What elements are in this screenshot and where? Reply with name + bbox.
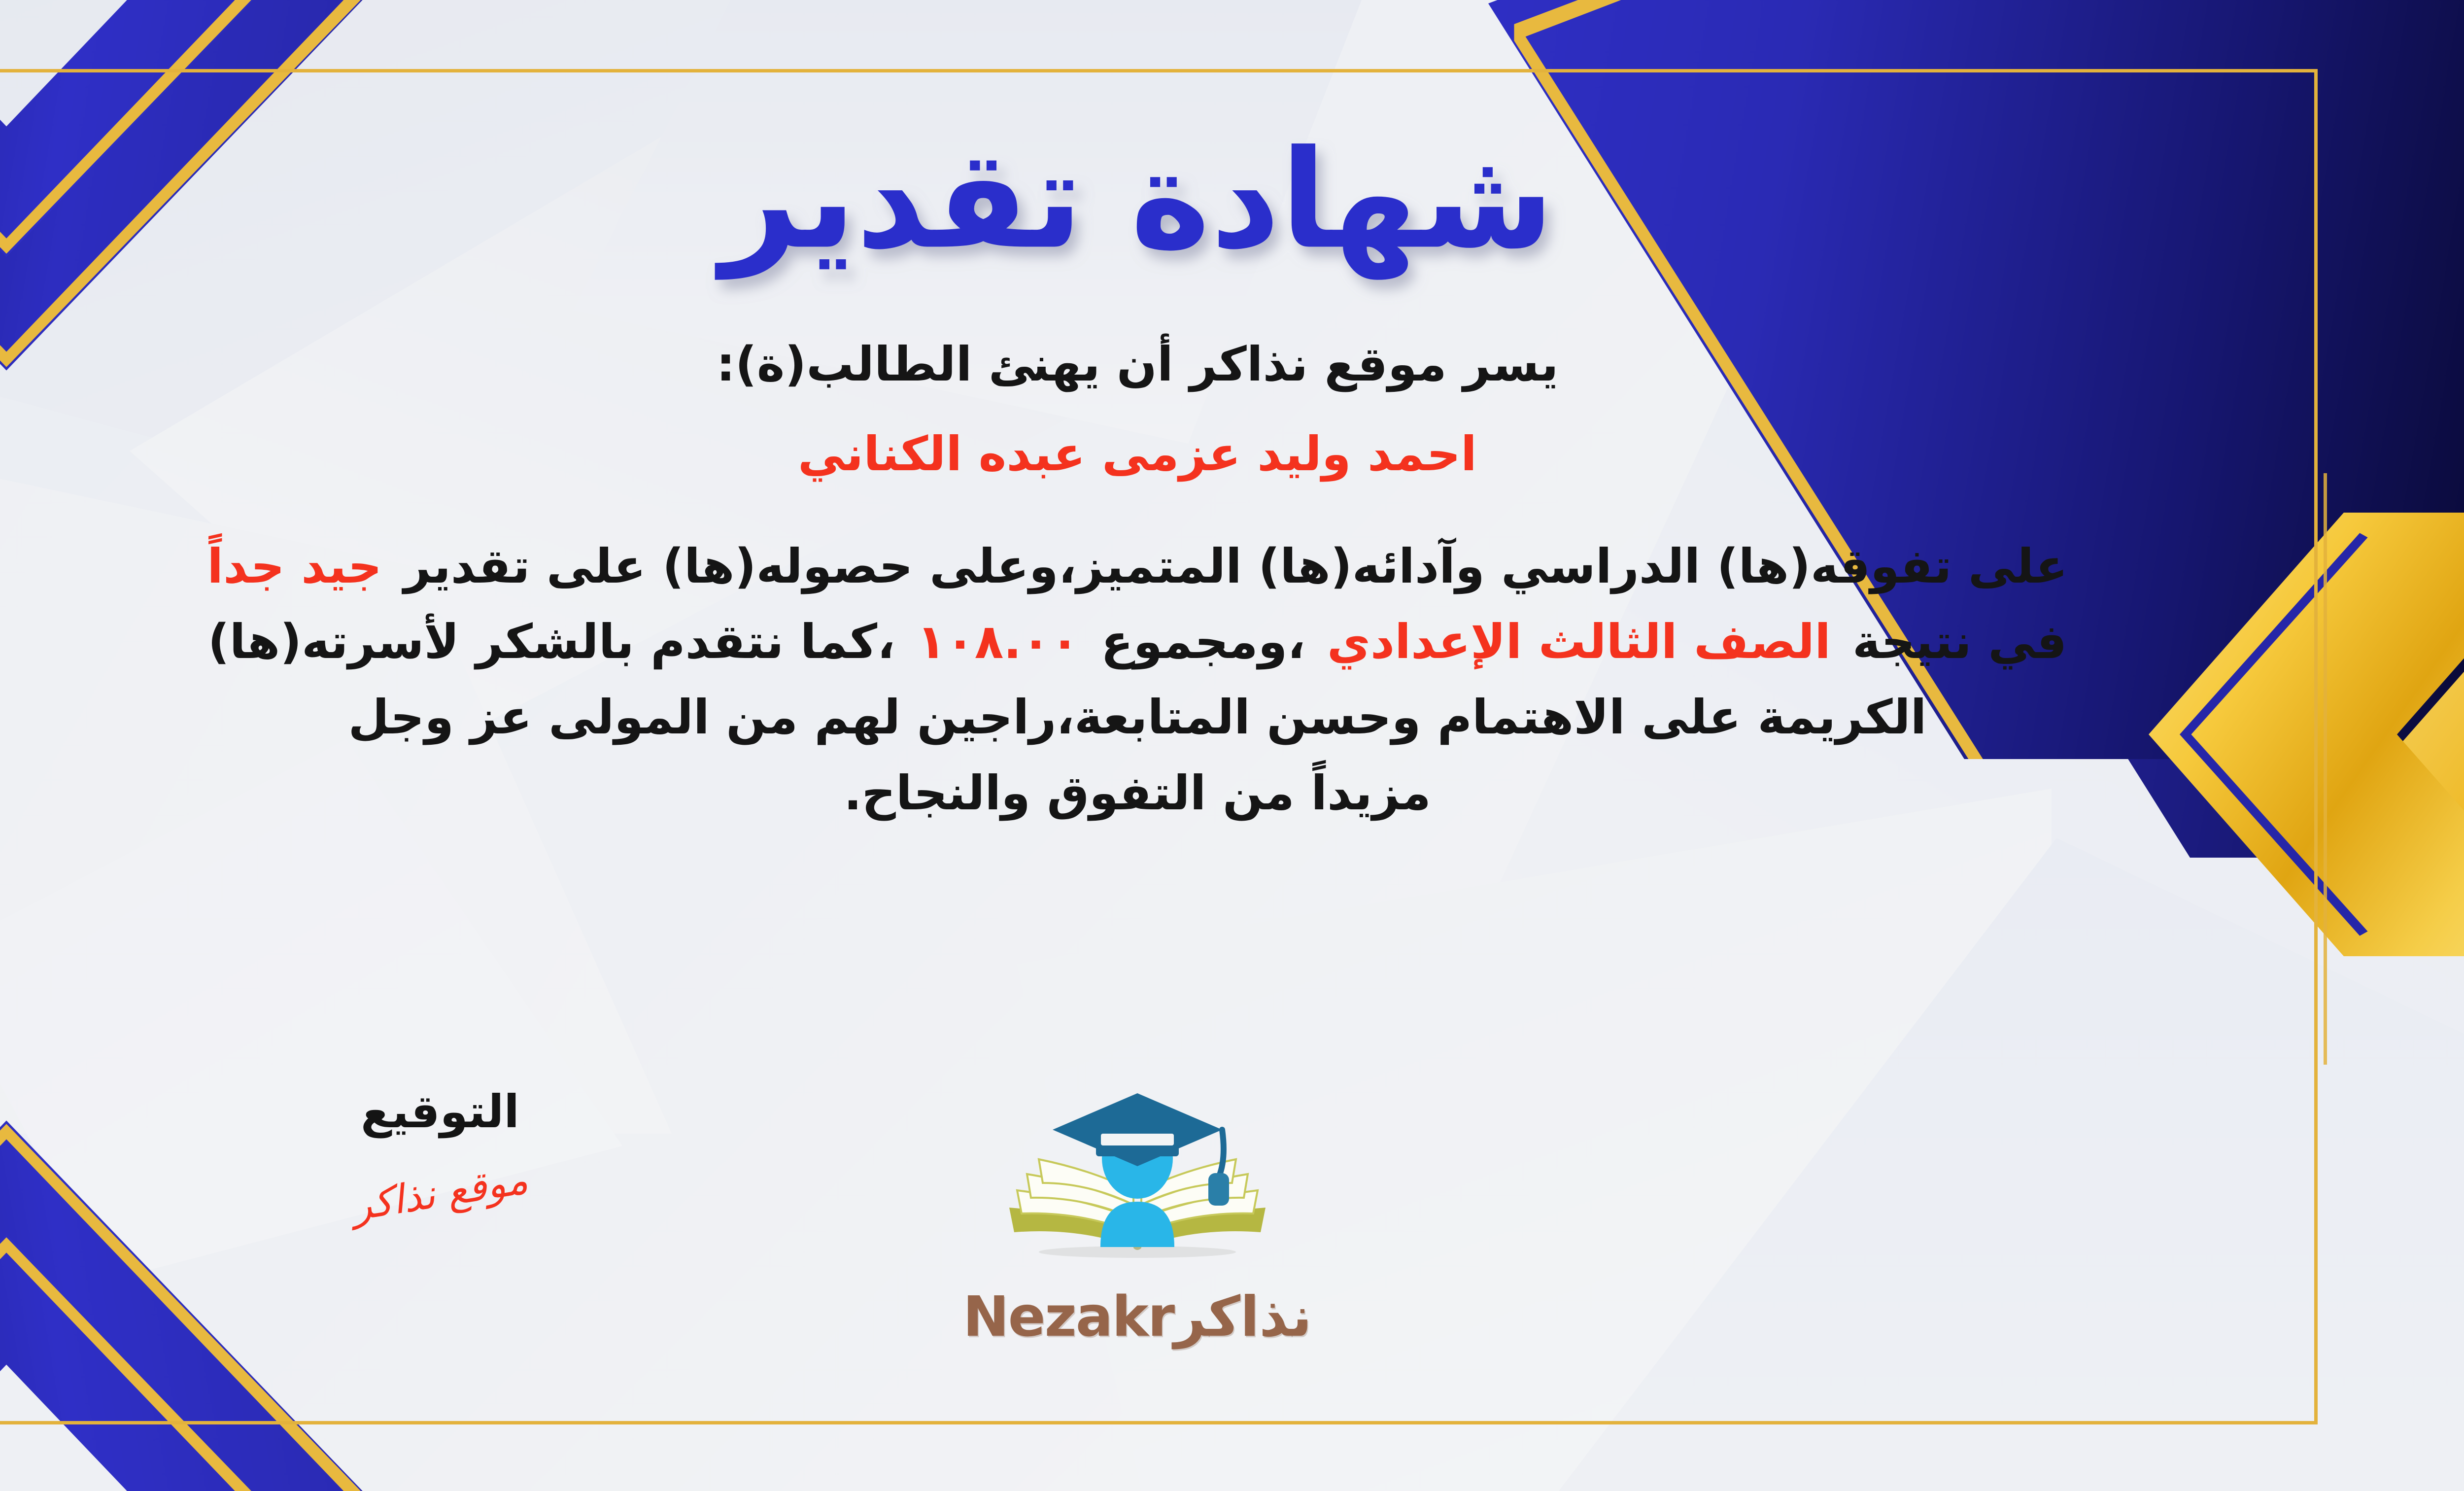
body-line-2: في نتيجةالصف الثالث الإعدادي،ومجموع١٠٨.٠… bbox=[56, 608, 2219, 676]
greeting-line: يسر موقع نذاكر أن يهنئ الطالب(ة): bbox=[56, 330, 2219, 399]
graduation-book-logo-icon bbox=[999, 1084, 1275, 1291]
signature-label: التوقيع bbox=[218, 1089, 662, 1135]
certificate-title-text: شهادة تقدير bbox=[714, 121, 1554, 281]
student-name: احمد وليد عزمى عبده الكناني bbox=[56, 423, 2219, 485]
body-line-3: الكريمة على الاهتمام وحسن المتابعة،راجين… bbox=[56, 683, 2219, 752]
certificate-content: شهادة تقدير يسر موقع نذاكر أن يهنئ الطال… bbox=[0, 69, 2318, 1424]
logo-wordmark: نذاكرNezakr bbox=[916, 1288, 1359, 1347]
logo-word-en: Nezakr bbox=[963, 1285, 1174, 1349]
certificate-body: على تفوقه(ها) الدراسي وآدائه(ها) المتميز… bbox=[56, 532, 2219, 828]
signature-mark: موقع نذاكر bbox=[349, 1156, 531, 1229]
certificate-footer: التوقيع موقع نذاكر bbox=[56, 1089, 2219, 1365]
body-line-2-prefix: في نتيجة bbox=[1852, 614, 2067, 669]
grade-value: جيد جداً bbox=[207, 539, 382, 594]
body-line-4: مزيداً من التفوق والنجاح. bbox=[56, 759, 2219, 828]
logo-word-ar: نذاكر bbox=[1174, 1285, 1312, 1349]
right-gold-vertical-line bbox=[2324, 473, 2327, 1065]
body-line-1-text: على تفوقه(ها) الدراسي وآدائه(ها) المتميز… bbox=[404, 539, 2068, 594]
certificate-title: شهادة تقدير bbox=[56, 108, 2219, 301]
total-value: ١٠٨.٠٠ bbox=[917, 614, 1079, 669]
body-line-2-suffix: ،كما نتقدم بالشكر لأسرته(ها) bbox=[208, 614, 895, 669]
body-line-1: على تفوقه(ها) الدراسي وآدائه(ها) المتميز… bbox=[56, 532, 2219, 601]
signature-block: التوقيع موقع نذاكر bbox=[218, 1089, 662, 1216]
body-line-2-mid: ،ومجموع bbox=[1101, 614, 1305, 669]
site-logo: نذاكرNezakr bbox=[916, 1084, 1359, 1347]
stage-value: الصف الثالث الإعدادي bbox=[1327, 614, 1831, 669]
certificate-page: شهادة تقدير يسر موقع نذاكر أن يهنئ الطال… bbox=[0, 0, 2464, 1491]
